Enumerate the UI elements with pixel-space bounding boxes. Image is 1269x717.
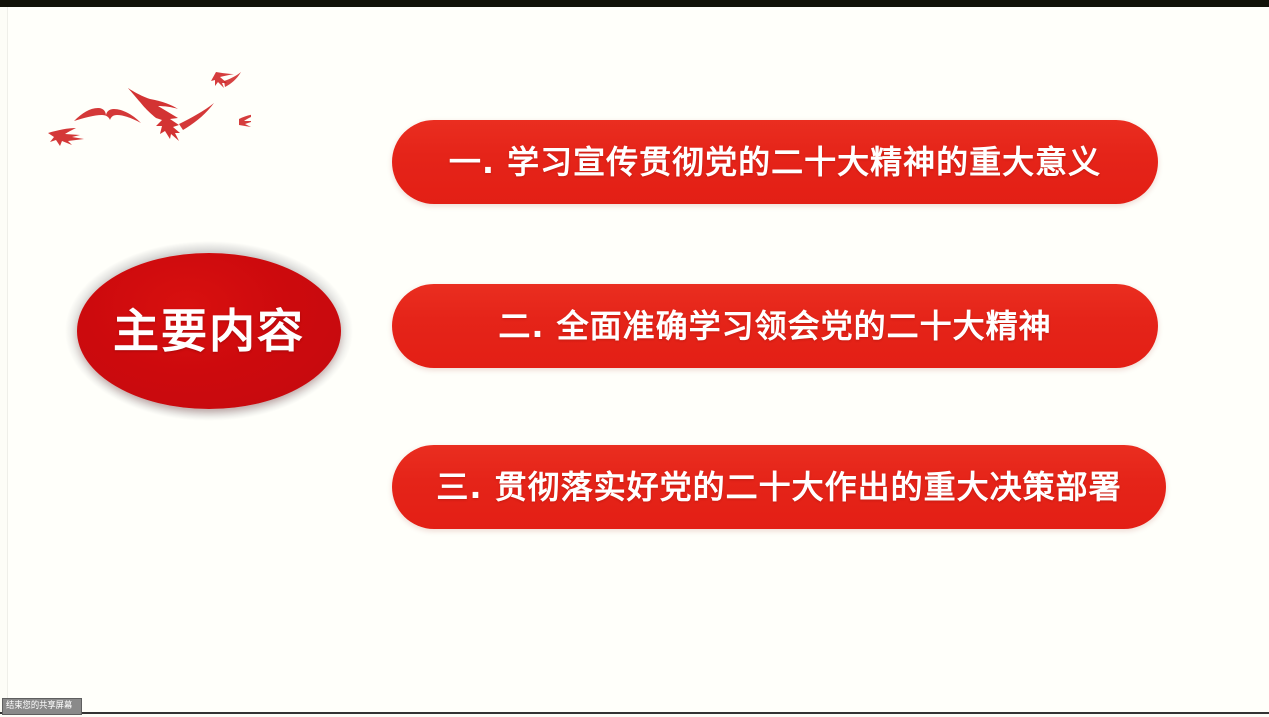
screen-capture-frame: 主要内容 一. 学习宣传贯彻党的二十大精神的重大意义 二. 全面准确学习领会党的… xyxy=(0,0,1269,717)
topic-ellipse-shape: 主要内容 xyxy=(77,253,341,409)
main-topic-label: 主要内容 xyxy=(113,308,305,354)
agenda-item-2-label: 二. 全面准确学习领会党的二十大精神 xyxy=(498,310,1051,342)
stop-screen-share-indicator[interactable]: 结束您的共享屏幕 xyxy=(2,698,82,715)
agenda-item-3[interactable]: 三. 贯彻落实好党的二十大作出的重大决策部署 xyxy=(392,445,1166,529)
agenda-item-2[interactable]: 二. 全面准确学习领会党的二十大精神 xyxy=(392,284,1158,368)
window-bottom-divider xyxy=(0,712,1269,714)
window-top-band xyxy=(0,0,1269,7)
agenda-item-3-label: 三. 贯彻落实好党的二十大作出的重大决策部署 xyxy=(436,471,1121,503)
main-topic-badge: 主要内容 xyxy=(65,241,353,421)
agenda-item-1-label: 一. 学习宣传贯彻党的二十大精神的重大意义 xyxy=(449,146,1101,178)
flying-birds-icon xyxy=(46,51,251,151)
stop-screen-share-label: 结束您的共享屏幕 xyxy=(6,702,72,711)
agenda-item-1[interactable]: 一. 学习宣传贯彻党的二十大精神的重大意义 xyxy=(392,120,1158,204)
presentation-slide: 主要内容 一. 学习宣传贯彻党的二十大精神的重大意义 二. 全面准确学习领会党的… xyxy=(8,7,1269,713)
